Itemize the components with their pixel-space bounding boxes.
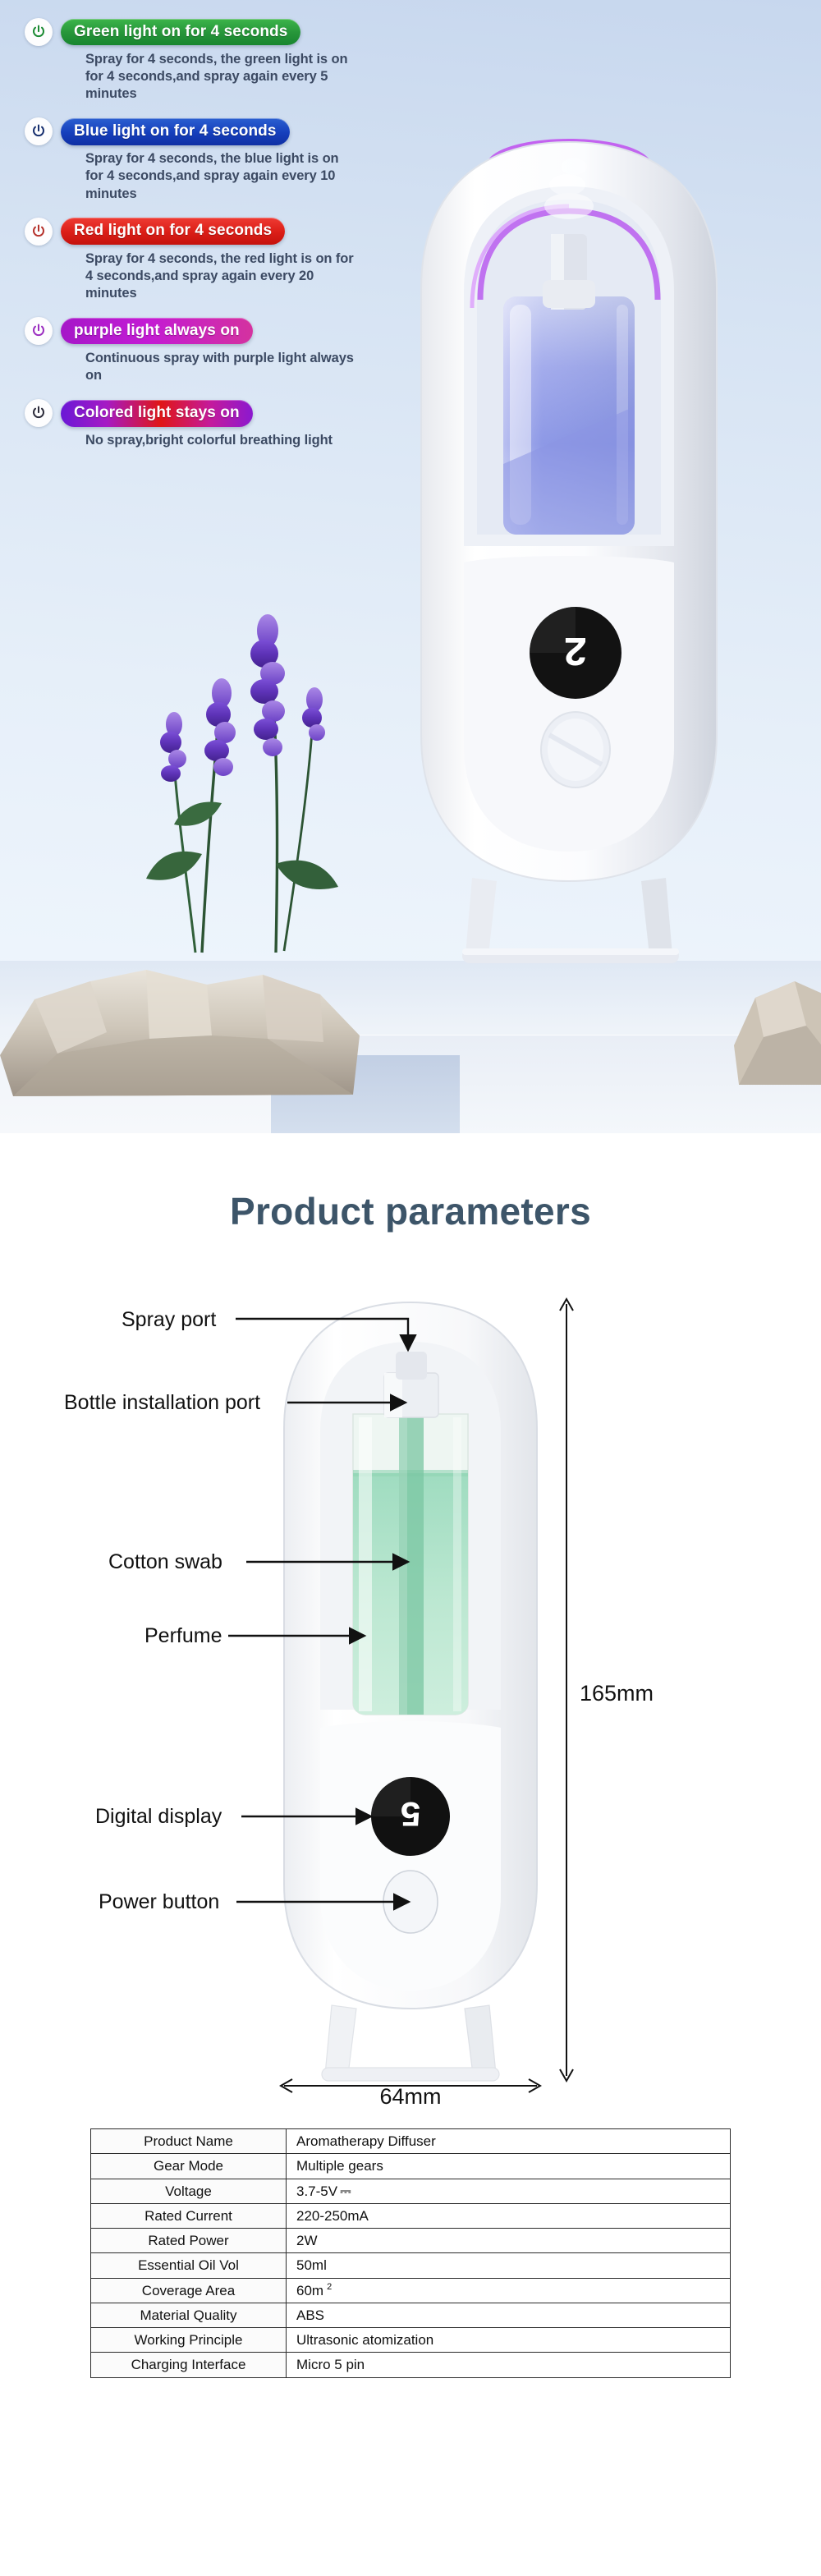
product-detail-page: 2 — [0, 0, 821, 2413]
table-row: Product Name Aromatherapy Diffuser — [91, 2129, 731, 2154]
feature-badge: Red light on for 4 seconds — [61, 218, 285, 245]
spec-value: Ultrasonic atomization — [287, 2328, 731, 2353]
callout-label: Bottle installation port — [64, 1391, 260, 1414]
feature-item: purple light always on Continuous spray … — [25, 317, 369, 384]
feature-badge: purple light always on — [61, 318, 253, 345]
feature-item: Colored light stays on No spray,bright c… — [25, 399, 369, 449]
product-parameters-section: Product parameters — [0, 1133, 821, 2107]
dimension-width-label: 64mm — [379, 2084, 441, 2107]
hero-display-value: 2 — [563, 625, 588, 672]
power-icon — [25, 18, 53, 46]
feature-description: Continuous spray with purple light alway… — [85, 350, 356, 384]
table-row: Working Principle Ultrasonic atomization — [91, 2328, 731, 2353]
spec-key: Rated Power — [91, 2229, 287, 2253]
spec-value: 60m2 — [287, 2278, 731, 2303]
rock-decoration-left — [0, 957, 369, 1109]
page-title: Product parameters — [0, 1189, 821, 1233]
spec-key: Voltage — [91, 2179, 287, 2203]
diffuser-diagram-body: 5 — [284, 1302, 537, 2081]
callout-label: Spray port — [122, 1308, 216, 1331]
power-icon — [25, 399, 53, 427]
superscript: 2 — [327, 2282, 332, 2292]
spec-value-text: 60m — [296, 2283, 323, 2298]
feature-description: Spray for 4 seconds, the red light is on… — [85, 250, 356, 302]
spec-key: Product Name — [91, 2129, 287, 2154]
spec-key: Working Principle — [91, 2328, 287, 2353]
spec-value: 2W — [287, 2229, 731, 2253]
table-row: Material Quality ABS — [91, 2303, 731, 2327]
spec-key: Material Quality — [91, 2303, 287, 2327]
dc-symbol: ⎓ — [340, 2183, 351, 2199]
dimension-width: 64mm — [281, 2079, 540, 2107]
table-row: Rated Power 2W — [91, 2229, 731, 2253]
dimension-height: 165mm — [560, 1299, 654, 2081]
lavender-decoration — [123, 608, 369, 965]
spec-key: Essential Oil Vol — [91, 2253, 287, 2278]
table-row: Essential Oil Vol 50ml — [91, 2253, 731, 2278]
feature-badge: Green light on for 4 seconds — [61, 19, 300, 46]
callout-label: Perfume — [144, 1624, 222, 1647]
table-row: Voltage 3.7-5V⎓ — [91, 2179, 731, 2203]
hero-section: 2 — [0, 0, 821, 1133]
callout-label: Power button — [99, 1890, 219, 1913]
power-icon — [25, 117, 53, 145]
table-row: Rated Current 220-250mA — [91, 2203, 731, 2228]
feature-item: Blue light on for 4 seconds Spray for 4 … — [25, 117, 369, 202]
spec-value: 3.7-5V⎓ — [287, 2179, 731, 2203]
feature-description: Spray for 4 seconds, the blue light is o… — [85, 150, 356, 202]
spec-key: Rated Current — [91, 2203, 287, 2228]
diagram-display-value: 5 — [400, 1791, 421, 1832]
dimension-height-label: 165mm — [580, 1681, 654, 1706]
spec-value: 50ml — [287, 2253, 731, 2278]
power-icon — [25, 317, 53, 345]
feature-item: Red light on for 4 seconds Spray for 4 s… — [25, 218, 369, 302]
specification-table: Product Name Aromatherapy Diffuser Gear … — [90, 2128, 731, 2378]
spec-key: Charging Interface — [91, 2353, 287, 2377]
callout-label: Cotton swab — [108, 1550, 222, 1573]
callout-label: Digital display — [95, 1805, 222, 1828]
spec-value: Multiple gears — [287, 2154, 731, 2179]
table-row: Charging Interface Micro 5 pin — [91, 2353, 731, 2377]
feature-list: Green light on for 4 seconds Spray for 4… — [25, 18, 369, 464]
table-row: Gear Mode Multiple gears — [91, 2154, 731, 2179]
feature-item: Green light on for 4 seconds Spray for 4… — [25, 18, 369, 103]
feature-description: No spray,bright colorful breathing light — [85, 432, 356, 449]
spec-value: Micro 5 pin — [287, 2353, 731, 2377]
spec-value: 220-250mA — [287, 2203, 731, 2228]
table-row: Coverage Area 60m2 — [91, 2278, 731, 2303]
power-icon — [25, 218, 53, 246]
spec-key: Gear Mode — [91, 2154, 287, 2179]
specification-section: Product Name Aromatherapy Diffuser Gear … — [0, 2107, 821, 2413]
product-diagram: 5 Spray port Bottle installa — [0, 1253, 821, 2107]
feature-description: Spray for 4 seconds, the green light is … — [85, 51, 356, 103]
spec-key: Coverage Area — [91, 2278, 287, 2303]
feature-badge: Colored light stays on — [61, 400, 253, 427]
spec-value: Aromatherapy Diffuser — [287, 2129, 731, 2154]
diffuser-product-image: 2 — [374, 135, 768, 1043]
spec-value-text: 3.7-5V — [296, 2183, 337, 2199]
feature-badge: Blue light on for 4 seconds — [61, 118, 290, 145]
spec-value: ABS — [287, 2303, 731, 2327]
